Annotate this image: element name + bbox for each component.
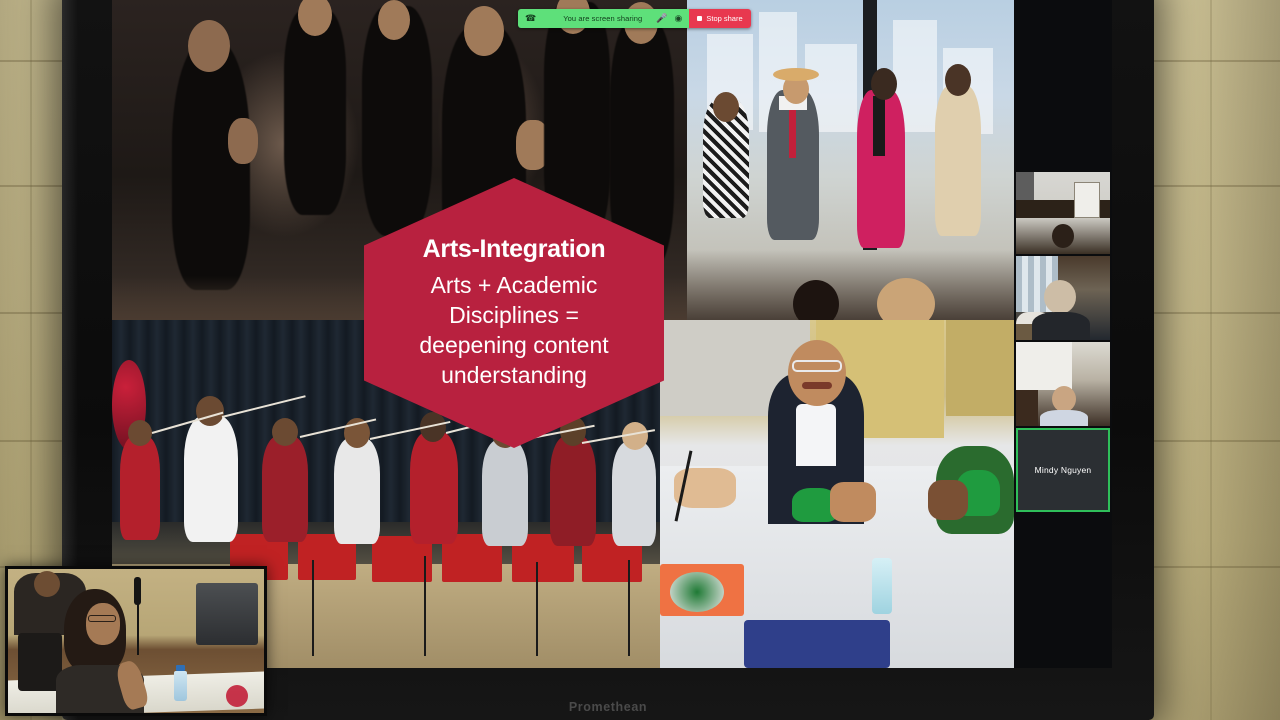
callout-line-3: deepening content [419,331,608,361]
pip-background-person-head [34,571,60,597]
pip-microphone [134,577,141,605]
pip-logo-mark [226,685,248,707]
participant-tile-3[interactable] [1016,342,1110,426]
screen-share-toolbar[interactable]: ☎ You are screen sharing 🎤 ◉ Stop share [518,9,751,28]
wall-shadow-right [1160,0,1280,720]
local-camera-pip[interactable] [5,566,267,716]
stop-share-button[interactable]: Stop share [689,9,750,28]
callout-line-1: Arts + Academic [431,271,598,301]
participant-tile-2[interactable] [1016,256,1110,340]
room-background: Promethean [0,0,1280,720]
callout-line-2: Disciplines = [449,301,579,331]
pip-water-bottle-cap [176,665,185,671]
stop-icon [697,16,702,21]
pip-water-bottle [174,671,187,701]
drama-performance-photo [687,0,1014,320]
callout-title: Arts-Integration [423,235,606,264]
share-status-group: ☎ You are screen sharing [518,9,649,28]
phone-icon: ☎ [525,13,536,24]
microphone-icon[interactable]: 🎤 [656,13,667,24]
pip-microphone-stand [137,603,139,655]
participant-name-label: Mindy Nguyen [1035,465,1092,475]
share-status-text: You are screen sharing [541,14,642,23]
participant-tile-4-active[interactable]: Mindy Nguyen [1016,428,1110,512]
pip-speaker-face [86,603,120,645]
glasses-icon [88,615,116,622]
participant-filmstrip[interactable]: Mindy Nguyen [1014,0,1112,668]
camera-icon[interactable]: ◉ [675,13,683,24]
pip-monitor [196,583,258,645]
art-class-photo [660,320,1014,668]
callout-line-4: understanding [441,361,587,391]
stop-share-label: Stop share [706,14,742,23]
pip-scene [8,569,264,713]
participant-tile-1[interactable] [1016,172,1110,254]
share-controls-group[interactable]: 🎤 ◉ [649,9,689,28]
